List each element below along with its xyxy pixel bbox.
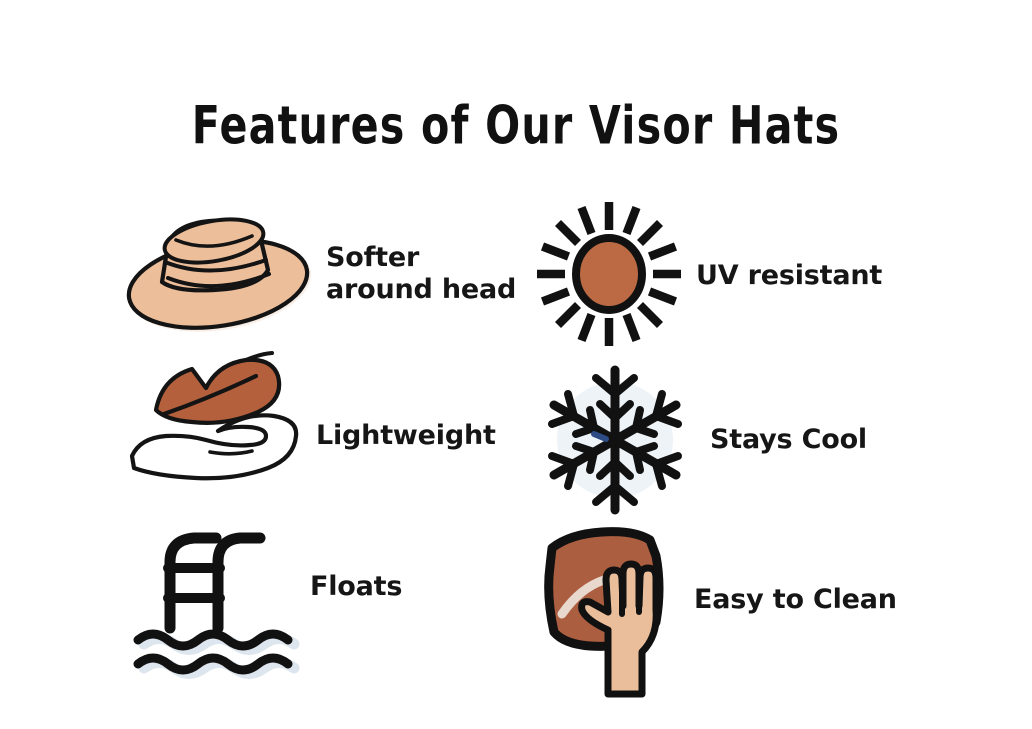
infographic-canvas: Features of Our Visor Hats Softer aroun (0, 0, 1032, 729)
feature-item-stays-cool: Stays Cool (536, 366, 867, 514)
feature-item-floats: Floats (128, 520, 402, 668)
feature-label-stays-cool: Stays Cool (710, 424, 867, 456)
sun-icon (528, 196, 690, 356)
feature-label-lightweight: Lightweight (316, 420, 496, 452)
feature-label-softer: Softer around head (326, 242, 516, 306)
feature-item-easy-to-clean: Easy to Clean (530, 518, 897, 698)
sun-hat-icon (118, 208, 318, 340)
feature-item-uv-resistant: UV resistant (528, 196, 882, 356)
snowflake-icon (536, 366, 694, 514)
feature-label-uv-resistant: UV resistant (696, 260, 882, 292)
feature-item-softer: Softer around head (118, 208, 516, 340)
feature-item-lightweight: Lightweight (126, 352, 496, 484)
pool-ladder-water-icon (128, 520, 316, 668)
leaf-on-hand-icon (126, 352, 316, 484)
page-title: Features of Our Visor Hats (21, 96, 1012, 157)
feature-label-easy-to-clean: Easy to Clean (694, 584, 897, 616)
feature-label-floats: Floats (310, 571, 402, 603)
hand-wiping-cloth-icon (530, 518, 692, 698)
